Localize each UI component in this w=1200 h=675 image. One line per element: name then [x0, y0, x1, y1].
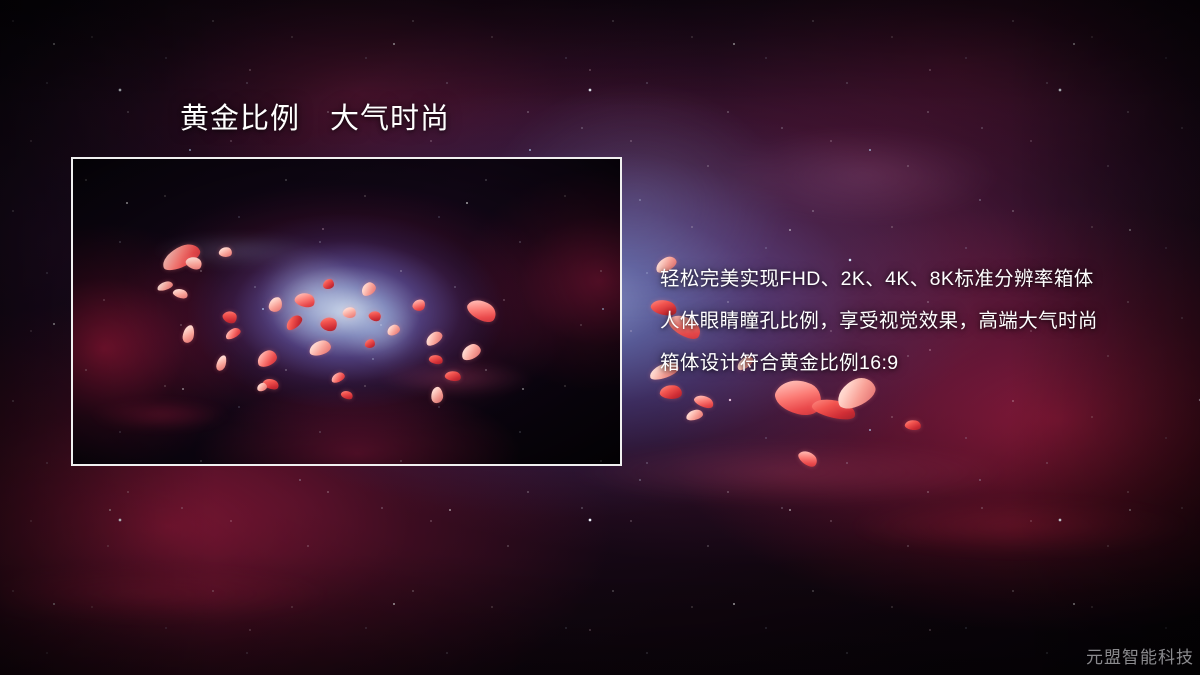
presentation-slide: 黄金比例 大气时尚 轻松完美实现FHD、2K、4K、8K标准分辨率箱体 人体眼睛… — [0, 0, 1200, 675]
body-copy-line-3: 箱体设计符合黄金比例16:9 — [660, 342, 1160, 384]
body-copy-line-1: 轻松完美实现FHD、2K、4K、8K标准分辨率箱体 — [660, 258, 1160, 300]
petal — [693, 392, 716, 411]
body-copy-line-2: 人体眼睛瞳孔比例，享受视觉效果，高端大气时尚 — [660, 300, 1160, 342]
petal — [685, 409, 703, 422]
panel-vignette — [73, 159, 620, 464]
body-copy-block: 轻松完美实现FHD、2K、4K、8K标准分辨率箱体 人体眼睛瞳孔比例，享受视觉效… — [660, 258, 1160, 384]
petal — [796, 447, 820, 470]
petal — [904, 418, 922, 431]
petal — [659, 384, 683, 401]
framed-nebula-image — [71, 157, 622, 466]
petal — [810, 394, 857, 423]
slide-title: 黄金比例 大气时尚 — [180, 102, 450, 137]
framed-image-content — [73, 159, 620, 464]
watermark: 元盟智能科技 — [1086, 647, 1194, 669]
